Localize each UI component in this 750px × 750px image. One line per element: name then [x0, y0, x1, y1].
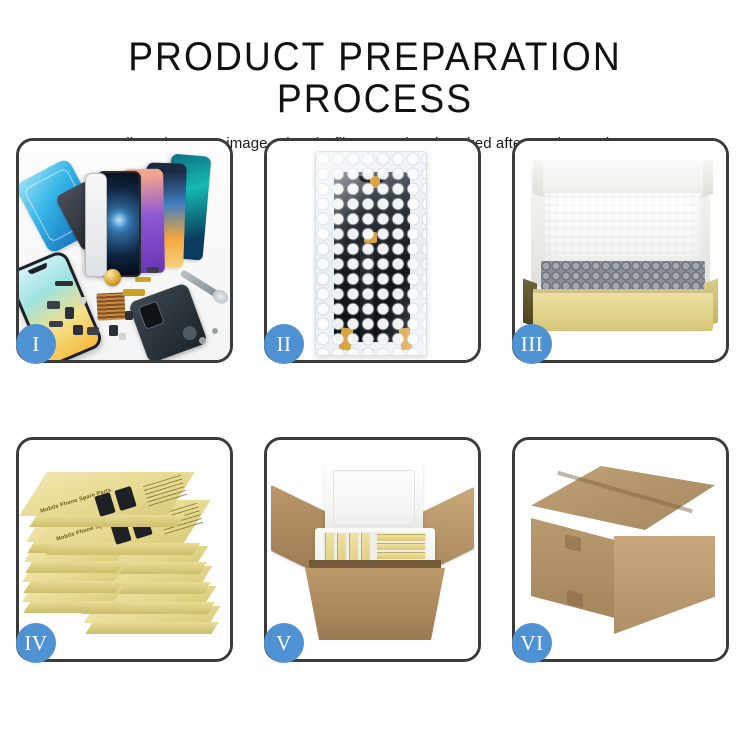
process-step-4[interactable]: Mobile Phone Spare Parts Mobile Phone Sp…	[16, 437, 233, 662]
page-header: PRODUCT PREPARATION PROCESS All products…	[0, 0, 750, 153]
flex-cable-part	[135, 277, 151, 282]
foam-lid	[539, 159, 707, 197]
copper-mesh-part	[96, 292, 125, 320]
kraft-box-front	[533, 289, 713, 331]
plastic-gloss	[316, 152, 426, 355]
foam-sheet	[545, 193, 701, 263]
step-badge-3: III	[512, 324, 552, 364]
spare-part	[47, 301, 60, 309]
retail-box-top: Mobile Phone Spare Parts	[33, 472, 181, 516]
spare-part	[87, 327, 99, 335]
process-step-grid: I II	[16, 138, 734, 662]
step-4-image: Mobile Phone Spare Parts Mobile Phone Sp…	[19, 440, 230, 659]
process-step-2[interactable]: II	[264, 138, 481, 363]
bubble-wrap-bag	[315, 151, 427, 356]
process-step-5[interactable]: V	[264, 437, 481, 662]
step-badge-1: I	[16, 324, 56, 364]
step-2-image	[267, 141, 478, 360]
spare-part	[125, 311, 133, 320]
process-step-1[interactable]: I	[16, 138, 233, 363]
step-badge-6: VI	[512, 623, 552, 663]
step-badge-5: V	[264, 623, 304, 663]
spare-part	[79, 297, 86, 304]
process-step-6[interactable]: VI	[512, 437, 729, 662]
styrofoam-lid	[325, 462, 423, 534]
step-6-image	[515, 440, 726, 659]
gold-coil-part	[104, 269, 121, 286]
spare-part	[73, 325, 83, 335]
spare-part	[55, 281, 73, 286]
spare-part	[109, 325, 118, 336]
phone-fan-group	[85, 153, 225, 275]
spare-part	[119, 333, 126, 340]
spare-part	[65, 307, 74, 319]
retail-box-stack: Mobile Phone Spare Parts Mobile Phone Sp…	[23, 458, 230, 654]
flex-cable-part	[123, 289, 145, 296]
carton-body	[305, 568, 445, 640]
step-5-image	[267, 440, 478, 659]
spare-part	[49, 321, 63, 327]
step-badge-2: II	[264, 324, 304, 364]
screw-part	[212, 328, 218, 334]
spare-part	[147, 267, 159, 273]
step-badge-4: IV	[16, 623, 56, 663]
step-3-image	[515, 141, 726, 360]
page-title: PRODUCT PREPARATION PROCESS	[26, 36, 724, 120]
screw-part	[199, 337, 206, 344]
step-1-image	[19, 141, 230, 360]
process-step-3[interactable]: III	[512, 138, 729, 363]
